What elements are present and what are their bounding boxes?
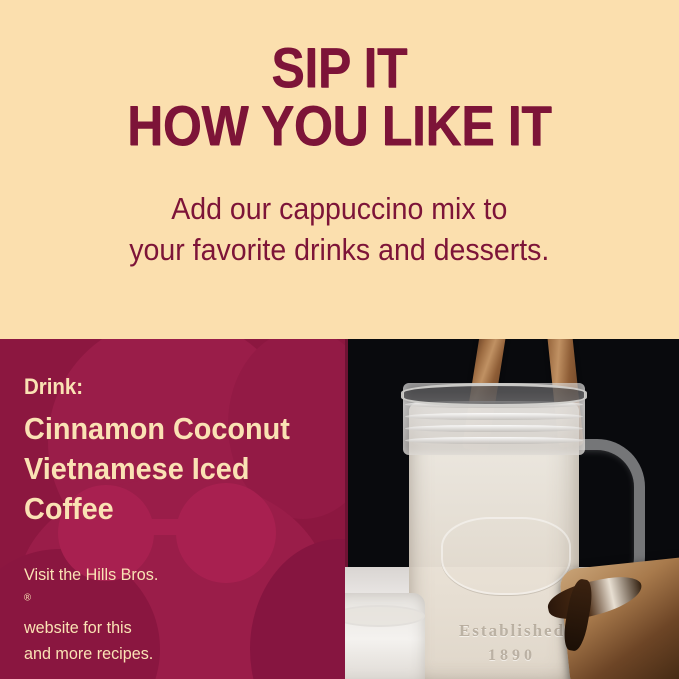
- page-title: SIP IT HOW YOU LIKE IT: [127, 42, 551, 153]
- cta-line-1-tail: website for this: [24, 615, 306, 641]
- product-lifestyle-ad: SIP IT HOW YOU LIKE IT Add our cappuccin…: [0, 0, 679, 679]
- drink-name-line-3: Coffee: [24, 489, 300, 529]
- cta-brand-text: Visit the Hills Bros.: [24, 562, 306, 588]
- headline-line-2: HOW YOU LIKE IT: [127, 100, 551, 152]
- headline-line-1: SIP IT: [127, 42, 551, 94]
- recipe-panel: Drink: Cinnamon Coconut Vietnamese Iced …: [0, 339, 345, 679]
- subheading: Add our cappuccino mix to your favorite …: [129, 189, 549, 271]
- drink-name-line-2: Vietnamese Iced: [24, 449, 300, 489]
- subheading-line-2: your favorite drinks and desserts.: [129, 230, 549, 271]
- registered-trademark-icon: ®: [24, 592, 31, 603]
- photo-scene: Established 1890: [345, 339, 679, 679]
- cta-line-2: and more recipes.: [24, 641, 306, 667]
- jar-rim-opening: [401, 383, 587, 407]
- jar-thread-ring-2: [405, 413, 583, 420]
- jar-thread-ring-4: [405, 437, 583, 444]
- drink-name: Cinnamon Coconut Vietnamese Iced Coffee: [24, 409, 300, 528]
- cta-line-1: Visit the Hills Bros.® website for this: [24, 562, 306, 641]
- subheading-line-1: Add our cappuccino mix to: [129, 189, 549, 230]
- headline-banner: SIP IT HOW YOU LIKE IT Add our cappuccin…: [0, 0, 679, 339]
- recipe-content: Drink: Cinnamon Coconut Vietnamese Iced …: [0, 339, 345, 668]
- drink-label: Drink:: [24, 375, 300, 399]
- jar-thread-ring-3: [405, 425, 583, 432]
- drink-name-line-1: Cinnamon Coconut: [24, 409, 300, 449]
- jar-embossed-emblem: [441, 517, 571, 595]
- product-photo: Established 1890: [345, 339, 679, 679]
- website-call-to-action: Visit the Hills Bros.® website for this …: [24, 562, 306, 667]
